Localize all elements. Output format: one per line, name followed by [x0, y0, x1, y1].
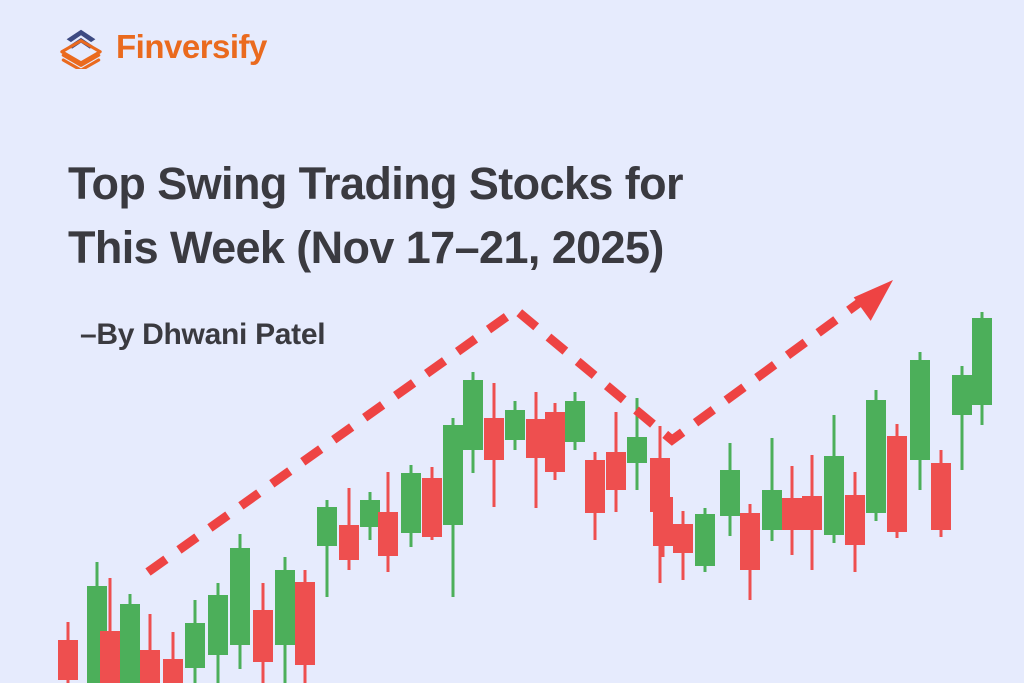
brand-name: Finversify [116, 30, 267, 63]
stacked-layers-icon [58, 23, 104, 69]
trend-arrow-head [854, 280, 893, 321]
headline-line-1: Top Swing Trading Stocks for [68, 152, 868, 216]
headline-line-2: This Week (Nov 17–21, 2025) [68, 216, 868, 280]
brand-logo[interactable]: Finversify [58, 18, 267, 74]
poster-canvas: Finversify Top Swing Trading Stocks for … [0, 0, 1024, 683]
author-byline: –By Dhwani Patel [80, 318, 325, 352]
page-title: Top Swing Trading Stocks for This Week (… [68, 152, 868, 280]
